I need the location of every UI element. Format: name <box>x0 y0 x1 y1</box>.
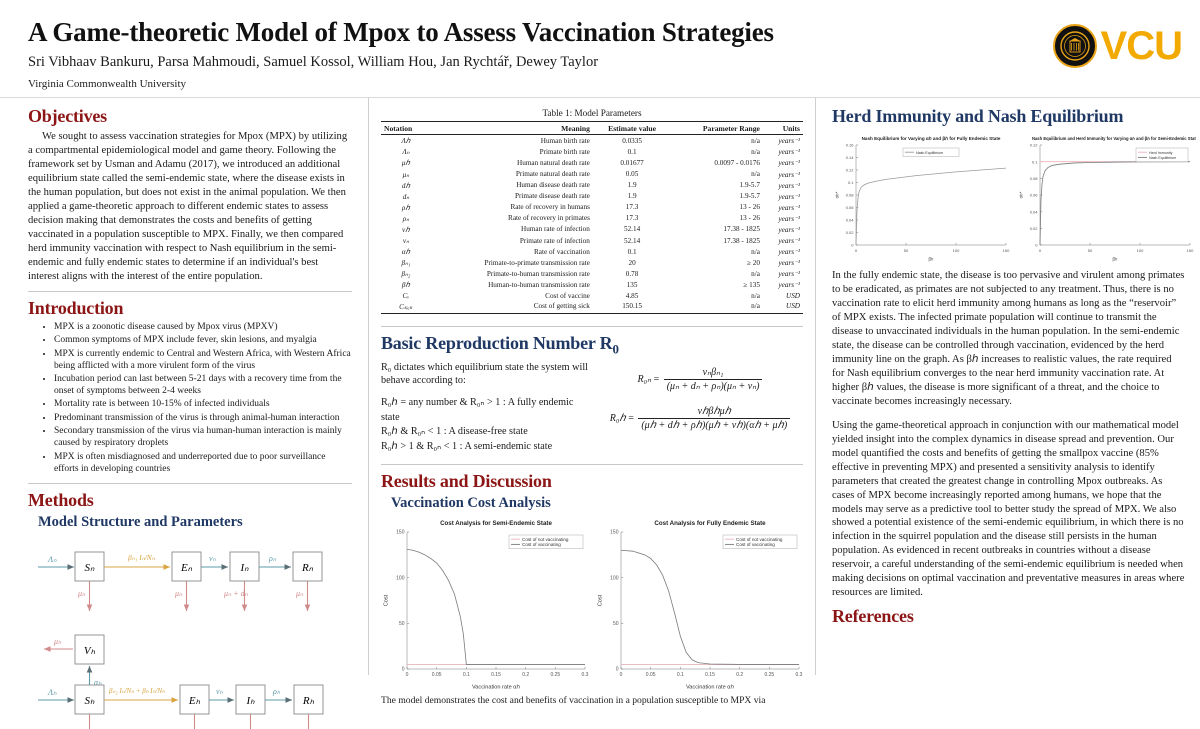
table-cell: n/a <box>671 291 763 301</box>
table-cell: 20 <box>593 257 671 268</box>
table-header-row: Notation Meaning Estimate value Paramete… <box>381 122 803 135</box>
diagram-box-vh: Vₕ <box>84 645 96 657</box>
diagram-label-lambda-h: Λₕ <box>47 687 57 697</box>
diagram-label-rho-n: ρₙ <box>268 554 277 563</box>
table-cell: 0.1 <box>593 246 671 257</box>
table-row: νℎHuman rate of infection52.1417.38 - 18… <box>381 224 803 235</box>
table-row: CₛᵢₑₖCost of getting sick150.15n/aUSD <box>381 301 803 314</box>
chart-nash-fully-endemic: Nash Equilibrium for Varying αℎ and βℎ f… <box>832 131 1012 263</box>
table-cell: Rate of vaccination <box>431 246 593 257</box>
x-axis-label: βℎ <box>1112 257 1117 262</box>
diagram-box-rh: Rₕ <box>302 695 315 707</box>
affiliation: Virginia Commonwealth University <box>28 78 1176 90</box>
table-cell: μℎ <box>381 157 431 168</box>
x-axis-label: Vaccination rate αℎ <box>686 684 734 691</box>
diagram-label-lambda-n: Λₙ <box>47 554 57 564</box>
table-row: βₙ₁Primate-to-primate transmission rate2… <box>381 257 803 268</box>
y-tick-label: 0 <box>1035 243 1038 248</box>
x-tick-label: 0.15 <box>491 672 501 678</box>
table-cell: 17.38 - 1825 <box>671 224 763 235</box>
chart-title: Nash Equilibrium and Herd Immunity for V… <box>1032 136 1196 141</box>
y-tick-label: 100 <box>396 576 405 582</box>
diagram-label-rho-h: ρₕ <box>272 687 281 696</box>
r0-condition: R₀ℎ > 1 & R₀ₙ < 1 : A semi-endemic state <box>381 440 593 454</box>
table-row: dₙPrimate disease death rate1.91.9-5.7ye… <box>381 191 803 202</box>
y-axis-label: αℎ* <box>835 191 840 198</box>
diagram-label-beta-n1: βₙ₁ Iₙ/Nₙ <box>127 553 156 562</box>
table-cell: Human birth rate <box>431 135 593 147</box>
methods-heading: Methods <box>28 490 352 511</box>
table-cell: Primate-to-human transmission rate <box>431 268 593 279</box>
table-row: dℎHuman disease death rate1.91.9-5.7year… <box>381 180 803 191</box>
table-caption: Table 1: Model Parameters <box>381 108 803 118</box>
legend-label: Nash Equilibrium <box>916 151 943 155</box>
table-cell: years⁻¹ <box>763 168 803 179</box>
equals-sign: = <box>654 374 662 385</box>
table-cell: βₙ₁ <box>381 257 431 268</box>
x-tick-label: 100 <box>1137 248 1144 253</box>
poster-header: A Game-theoretic Model of Mpox to Assess… <box>0 0 1200 98</box>
col-estimate: Estimate value <box>593 122 671 135</box>
table-cell: Human disease death rate <box>431 180 593 191</box>
table-cell: Λℎ <box>381 135 431 147</box>
r0-heading: Basic Reproduction Number R0 <box>381 333 803 358</box>
table-cell: αℎ <box>381 246 431 257</box>
series-line <box>856 168 1006 245</box>
x-tick-label: 0.25 <box>764 672 774 678</box>
x-axis-label: βℎ <box>928 257 933 262</box>
table-cell: n/a <box>671 146 763 157</box>
table-cell: Primate natural death rate <box>431 168 593 179</box>
column-middle: Table 1: Model Parameters Notation Meani… <box>368 98 816 675</box>
table-cell: 1.9-5.7 <box>671 191 763 202</box>
table-cell: Human rate of infection <box>431 224 593 235</box>
table-cell: 17.3 <box>593 213 671 224</box>
table-cell: 135 <box>593 279 671 290</box>
table-cell: ≥ 135 <box>671 279 763 290</box>
y-tick-label: 0 <box>616 667 619 673</box>
legend-label: Herd Immunity <box>1149 151 1173 155</box>
table-cell: 0.0335 <box>593 135 671 147</box>
r0-conditions: R₀ℎ = any number & R₀ₙ > 1 : A fully end… <box>381 396 593 454</box>
y-tick-label: 100 <box>610 576 619 582</box>
x-tick-label: 0 <box>855 248 858 253</box>
table-cell: n/a <box>671 168 763 179</box>
y-tick-label: 50 <box>613 621 619 627</box>
r0-heading-subscript: 0 <box>612 342 618 357</box>
legend-label: Cost of vaccinating <box>522 542 561 547</box>
diagram-label-mu-n-1: μₙ <box>77 589 86 598</box>
column-left: Objectives We sought to assess vaccinati… <box>0 98 368 675</box>
list-item: Incubation period can last between 5-21 … <box>54 374 352 398</box>
table-cell: n/a <box>671 246 763 257</box>
author-list: Sri Vibhaav Bankuru, Parsa Mahmoudi, Sam… <box>28 54 1176 71</box>
list-item: Predominant transmission of the virus is… <box>54 413 352 425</box>
x-tick-label: 0.2 <box>522 672 529 678</box>
table-cell: 0.05 <box>593 168 671 179</box>
y-tick-label: 50 <box>399 621 405 627</box>
x-tick-label: 0.1 <box>677 672 684 678</box>
chart-svg: Cost Analysis for Fully Endemic State00.… <box>595 516 807 691</box>
table-cell: years⁻¹ <box>763 257 803 268</box>
diagram-label-nu-h: νₕ <box>216 687 224 696</box>
chart-title: Nash Equilibrium for Varying αℎ and βℎ f… <box>862 136 1001 141</box>
equals-sign: = <box>628 413 636 424</box>
table-cell: 13 - 26 <box>671 213 763 224</box>
table-row: ΛℎHuman birth rate0.0335n/ayears⁻¹ <box>381 135 803 147</box>
series-line <box>621 550 799 664</box>
equation-r0n: R₀ₙ = νₙβₙ₁ (μₙ + dₙ + ρₙ)(μₙ + νₙ) <box>599 367 803 392</box>
page-title: A Game-theoretic Model of Mpox to Assess… <box>28 18 1176 46</box>
x-tick-label: 0.15 <box>705 672 715 678</box>
diagram-box-sn: Sₙ <box>85 562 96 574</box>
divider <box>28 483 352 484</box>
col-meaning: Meaning <box>431 122 593 135</box>
table-row: βℎHuman-to-human transmission rate135≥ 1… <box>381 279 803 290</box>
y-axis-label: αℎ* <box>1019 191 1024 198</box>
objectives-heading: Objectives <box>28 106 352 127</box>
table-cell: dₙ <box>381 191 431 202</box>
introduction-heading: Introduction <box>28 298 352 319</box>
table-cell: βₙ₂ <box>381 268 431 279</box>
chart-svg: Cost Analysis for Semi-Endemic State00.0… <box>381 516 593 691</box>
table-row: CᵥCost of vaccine4.85n/aUSD <box>381 291 803 301</box>
y-tick-label: 0.04 <box>846 218 855 223</box>
legend-label: Nash Equilibrium <box>1149 156 1176 160</box>
y-axis-label: Cost <box>384 594 390 606</box>
table-cell: years⁻¹ <box>763 235 803 246</box>
y-tick-label: 150 <box>610 530 619 536</box>
column-right: Herd Immunity and Nash Equilibrium Nash … <box>816 98 1200 675</box>
table-cell: years⁻¹ <box>763 279 803 290</box>
chart-cost-semi-endemic: Cost Analysis for Semi-Endemic State00.0… <box>381 516 593 691</box>
table-row: μℎHuman natural death rate0.016770.0097 … <box>381 157 803 168</box>
vcu-wordmark: VCU <box>1101 26 1182 66</box>
table-cell: years⁻¹ <box>763 157 803 168</box>
table-cell: Cost of getting sick <box>431 301 593 314</box>
chart-svg: Nash Equilibrium and Herd Immunity for V… <box>1016 131 1196 263</box>
table-cell: Primate rate of infection <box>431 235 593 246</box>
col-notation: Notation <box>381 122 431 135</box>
objectives-text: We sought to assess vaccination strategi… <box>28 130 352 284</box>
table-cell: Cost of vaccine <box>431 291 593 301</box>
results-subheading: Vaccination Cost Analysis <box>391 495 803 512</box>
table-cell: 52.14 <box>593 224 671 235</box>
r0-text-block: R₀ dictates which equilibrium state the … <box>381 361 593 454</box>
y-tick-label: 0.02 <box>846 230 855 235</box>
methods-subheading: Model Structure and Parameters <box>38 514 352 531</box>
table-cell: 0.01677 <box>593 157 671 168</box>
chart-cost-fully-endemic: Cost Analysis for Fully Endemic State00.… <box>595 516 807 691</box>
table-cell: Primate-to-primate transmission rate <box>431 257 593 268</box>
series-line <box>407 550 585 665</box>
list-item: Secondary transmission of the virus via … <box>54 426 352 450</box>
table-cell: Human natural death rate <box>431 157 593 168</box>
table-cell: Human-to-human transmission rate <box>431 279 593 290</box>
equation-r0h: R₀ℎ = νℎβℎμℎ (μℎ + dℎ + ρℎ)(μℎ + νℎ)(αℎ … <box>599 406 803 431</box>
table-cell: 0.0097 - 0.0176 <box>671 157 763 168</box>
legend-label: Cost of vaccinating <box>736 542 775 547</box>
diagram-label-beta-n2-beta-h: βₙ₂ Iₙ/Nₙ + βₕ Iₕ/Nₕ <box>108 687 165 695</box>
table-cell: 0.1 <box>593 146 671 157</box>
table-cell: years⁻¹ <box>763 268 803 279</box>
table-cell: years⁻¹ <box>763 135 803 147</box>
x-tick-label: 150 <box>1187 248 1194 253</box>
y-tick-label: 0.14 <box>846 155 855 160</box>
nash-equilibrium-charts: Nash Equilibrium for Varying αℎ and βℎ f… <box>832 131 1186 263</box>
chart-title: Cost Analysis for Fully Endemic State <box>654 520 766 527</box>
r0-condition: R₀ℎ & R₀ₙ < 1 : A disease-free state <box>381 425 593 439</box>
table-cell: Cₛᵢₑₖ <box>381 301 431 314</box>
y-tick-label: 0.02 <box>1030 226 1039 231</box>
r0-condition: R₀ℎ = any number & R₀ₙ > 1 : A fully end… <box>381 396 593 425</box>
chart-svg: Nash Equilibrium for Varying αℎ and βℎ f… <box>832 131 1012 263</box>
table-cell: years⁻¹ <box>763 224 803 235</box>
series-line <box>1040 162 1190 245</box>
table-cell: 1.9-5.7 <box>671 180 763 191</box>
table-cell: years⁻¹ <box>763 202 803 213</box>
equation-r0n-lhs: R₀ₙ <box>638 374 652 385</box>
equation-r0h-denominator: (μℎ + dℎ + ρℎ)(μℎ + νℎ)(αℎ + μℎ) <box>638 418 790 431</box>
herd-paragraph-1: In the fully endemic state, the disease … <box>832 269 1186 409</box>
poster-root: A Game-theoretic Model of Mpox to Assess… <box>0 0 1200 675</box>
y-tick-label: 0.16 <box>846 143 855 148</box>
y-tick-label: 0 <box>402 667 405 673</box>
chart-nash-herd-semi-endemic: Nash Equilibrium and Herd Immunity for V… <box>1016 131 1196 263</box>
r0-content: R₀ dictates which equilibrium state the … <box>381 361 803 454</box>
diagram-box-en: Eₙ <box>180 562 193 574</box>
table-row: βₙ₂Primate-to-human transmission rate0.7… <box>381 268 803 279</box>
table-cell: 52.14 <box>593 235 671 246</box>
results-heading: Results and Discussion <box>381 471 803 492</box>
y-tick-label: 0.12 <box>846 168 855 173</box>
divider <box>381 326 803 327</box>
table-cell: 1.9 <box>593 180 671 191</box>
y-tick-label: 0.06 <box>846 205 855 210</box>
r0-lead-text: R₀ dictates which equilibrium state the … <box>381 361 593 388</box>
table-cell: n/a <box>671 135 763 147</box>
list-item: MPX is currently endemic to Central and … <box>54 349 352 373</box>
x-tick-label: 0.25 <box>550 672 560 678</box>
equation-r0h-numerator: νℎβℎμℎ <box>695 406 734 418</box>
table-cell: νℎ <box>381 224 431 235</box>
vcu-seal-icon <box>1053 24 1097 68</box>
table-cell: dℎ <box>381 180 431 191</box>
y-tick-label: 0.04 <box>1030 209 1039 214</box>
table-cell: 150.15 <box>593 301 671 314</box>
table-cell: 17.3 <box>593 202 671 213</box>
model-parameters-table: Notation Meaning Estimate value Paramete… <box>381 121 803 313</box>
x-tick-label: 0 <box>620 672 623 678</box>
r0-equations: R₀ₙ = νₙβₙ₁ (μₙ + dₙ + ρₙ)(μₙ + νₙ) R₀ℎ … <box>599 361 803 454</box>
table-cell: years⁻¹ <box>763 213 803 224</box>
x-tick-label: 50 <box>904 248 909 253</box>
table-row: αℎRate of vaccination0.1n/ayears⁻¹ <box>381 246 803 257</box>
table-row: ΛₙPrimate birth rate0.1n/ayears⁻¹ <box>381 146 803 157</box>
table-cell: n/a <box>671 301 763 314</box>
table-cell: 4.85 <box>593 291 671 301</box>
y-tick-label: 0.1 <box>848 180 854 185</box>
equation-r0n-denominator: (μₙ + dₙ + ρₙ)(μₙ + νₙ) <box>664 379 763 392</box>
table-row: μₙPrimate natural death rate0.05n/ayears… <box>381 168 803 179</box>
x-axis-label: Vaccination rate αℎ <box>472 684 520 691</box>
y-tick-label: 150 <box>396 530 405 536</box>
table-cell: Cᵥ <box>381 291 431 301</box>
table-body: ΛℎHuman birth rate0.0335n/ayears⁻¹ΛₙPrim… <box>381 135 803 313</box>
table-cell: μₙ <box>381 168 431 179</box>
diagram-label-mu-h-v: μₕ <box>53 637 62 646</box>
table-row: ρℎRate of recovery in humans17.313 - 26y… <box>381 202 803 213</box>
table-cell: years⁻¹ <box>763 146 803 157</box>
table-cell: ρℎ <box>381 202 431 213</box>
table-cell: ρₙ <box>381 213 431 224</box>
equation-r0n-numerator: νₙβₙ₁ <box>700 367 727 379</box>
diagram-box-sh: Sₕ <box>85 695 96 707</box>
y-axis-label: Cost <box>598 594 604 606</box>
vcu-logo: VCU <box>1053 24 1182 68</box>
x-tick-label: 0.3 <box>796 672 803 678</box>
x-tick-label: 50 <box>1088 248 1093 253</box>
cost-analysis-charts: Cost Analysis for Semi-Endemic State00.0… <box>381 516 803 691</box>
results-footnote: The model demonstrates the cost and bene… <box>381 695 803 707</box>
diagram-label-mu-n-3: μₙ <box>295 589 304 598</box>
table-cell: 0.78 <box>593 268 671 279</box>
list-item: Common symptoms of MPX include fever, sk… <box>54 335 352 347</box>
x-tick-label: 0.2 <box>736 672 743 678</box>
table-cell: βℎ <box>381 279 431 290</box>
table-cell: 17.38 - 1825 <box>671 235 763 246</box>
list-item: MPX is a zoonotic disease caused by Mpox… <box>54 322 352 334</box>
table-cell: Primate birth rate <box>431 146 593 157</box>
chart-title: Cost Analysis for Semi-Endemic State <box>440 520 552 527</box>
fraction: νₙβₙ₁ (μₙ + dₙ + ρₙ)(μₙ + νₙ) <box>664 367 763 392</box>
table-cell: n/a <box>671 268 763 279</box>
divider <box>381 464 803 465</box>
r0-heading-text: Basic Reproduction Number R <box>381 333 612 353</box>
x-tick-label: 0.1 <box>463 672 470 678</box>
x-tick-label: 0.3 <box>582 672 589 678</box>
divider <box>28 291 352 292</box>
list-item: MPX is often misdiagnosed and underrepor… <box>54 452 352 476</box>
table-cell: USD <box>763 291 803 301</box>
table-cell: 13 - 26 <box>671 202 763 213</box>
table-cell: USD <box>763 301 803 314</box>
table-row: ρₙRate of recovery in primates17.313 - 2… <box>381 213 803 224</box>
table-cell: years⁻¹ <box>763 191 803 202</box>
references-heading: References <box>832 606 1186 627</box>
poster-columns: Objectives We sought to assess vaccinati… <box>0 98 1200 675</box>
x-tick-label: 0 <box>406 672 409 678</box>
table-bottom-rule <box>381 313 803 314</box>
diagram-label-nu-n: νₙ <box>209 554 217 563</box>
col-units: Units <box>763 122 803 135</box>
table-cell: years⁻¹ <box>763 180 803 191</box>
table-cell: 1.9 <box>593 191 671 202</box>
herd-immunity-heading: Herd Immunity and Nash Equilibrium <box>832 106 1186 127</box>
y-tick-label: 0.06 <box>1030 193 1039 198</box>
fraction: νℎβℎμℎ (μℎ + dℎ + ρℎ)(μℎ + νℎ)(αℎ + μℎ) <box>638 406 790 431</box>
table-cell: Λₙ <box>381 146 431 157</box>
table-cell: Rate of recovery in primates <box>431 213 593 224</box>
model-structure-diagram: Λₙ Sₙ Eₙ Iₙ Rₙ βₙ₁ Iₙ/Nₙ <box>28 539 352 729</box>
diagram-label-mu-n-2: μₙ <box>174 589 183 598</box>
equation-r0h-lhs: R₀ℎ <box>610 413 626 424</box>
diagram-label-mu-n-dn: μₙ + dₙ <box>223 589 249 598</box>
table-cell: Primate disease death rate <box>431 191 593 202</box>
diagram-box-eh: Eₕ <box>188 695 201 707</box>
diagram-box-rn: Rₙ <box>301 562 314 574</box>
x-tick-label: 150 <box>1003 248 1010 253</box>
y-tick-label: 0.08 <box>846 193 855 198</box>
col-range: Parameter Range <box>671 122 763 135</box>
diagram-box-in: Iₙ <box>239 562 249 574</box>
table-cell: ≥ 20 <box>671 257 763 268</box>
herd-paragraph-2: Using the game-theoretical approach in c… <box>832 419 1186 601</box>
table-cell: Rate of recovery in humans <box>431 202 593 213</box>
table-cell: years⁻¹ <box>763 246 803 257</box>
x-tick-label: 0.05 <box>432 672 442 678</box>
y-tick-label: 0.12 <box>1030 143 1039 148</box>
x-tick-label: 0.05 <box>646 672 656 678</box>
y-tick-label: 0 <box>851 243 854 248</box>
introduction-bullets: MPX is a zoonotic disease caused by Mpox… <box>28 322 352 476</box>
y-tick-label: 0.1 <box>1032 159 1038 164</box>
table-cell: νₙ <box>381 235 431 246</box>
x-tick-label: 0 <box>1039 248 1042 253</box>
list-item: Mortality rate is between 10-15% of infe… <box>54 399 352 411</box>
diagram-box-ih: Iₕ <box>245 695 255 707</box>
y-tick-label: 0.08 <box>1030 176 1039 181</box>
table-row: νₙPrimate rate of infection52.1417.38 - … <box>381 235 803 246</box>
x-tick-label: 100 <box>953 248 960 253</box>
